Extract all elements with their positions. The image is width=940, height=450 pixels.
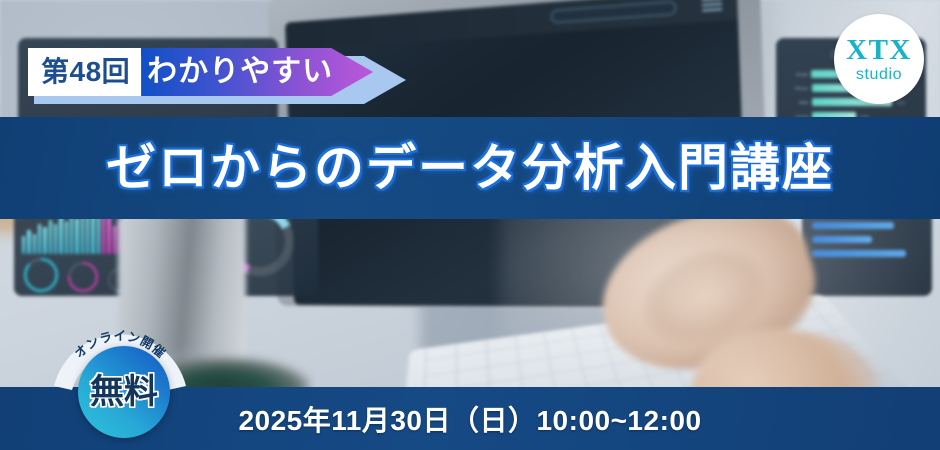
column-bar — [38, 224, 41, 254]
column-bar — [86, 215, 89, 254]
main-title-band: ゼロからのデータ分析入門講座 — [0, 117, 940, 219]
subtitle-label: わかりやすい — [141, 57, 333, 87]
column-bar — [113, 226, 116, 254]
column-bar — [43, 227, 46, 254]
column-bar — [70, 213, 73, 254]
free-online-badge: オンライン開催 無料 — [48, 310, 192, 450]
page-title: ゼロからのデータ分析入門講座 — [106, 143, 834, 193]
edition-badge: 第48回 — [28, 48, 141, 96]
brand-logo[interactable]: XTX studio — [834, 14, 924, 104]
column-bar — [54, 224, 57, 254]
event-date-text: 2025年11月30日（日）10:00~12:00 — [238, 399, 701, 439]
logo-wordmark: studio — [856, 67, 902, 83]
edition-label: 第48回 — [41, 58, 130, 86]
donut-gauge — [24, 258, 58, 292]
column-bar — [97, 213, 100, 254]
column-bar — [22, 236, 25, 254]
hamburger-icon — [702, 0, 722, 13]
column-bar — [49, 220, 52, 254]
price-circle: 無料 — [78, 346, 170, 438]
event-banner-poster: Canada Europe Asia-Pacific Last Year Top… — [0, 0, 940, 450]
subtitle-chevron: わかりやすい — [141, 48, 373, 96]
column-bar — [33, 234, 36, 254]
column-bar — [75, 218, 78, 254]
column-bar — [27, 230, 30, 254]
logo-mark: XTX — [846, 36, 912, 65]
donut-gauge — [68, 262, 98, 292]
column-bar — [59, 216, 62, 254]
column-bar — [65, 221, 68, 254]
price-label: 無料 — [90, 375, 158, 409]
subtitle-ribbon: 第48回 わかりやすい — [28, 48, 373, 96]
